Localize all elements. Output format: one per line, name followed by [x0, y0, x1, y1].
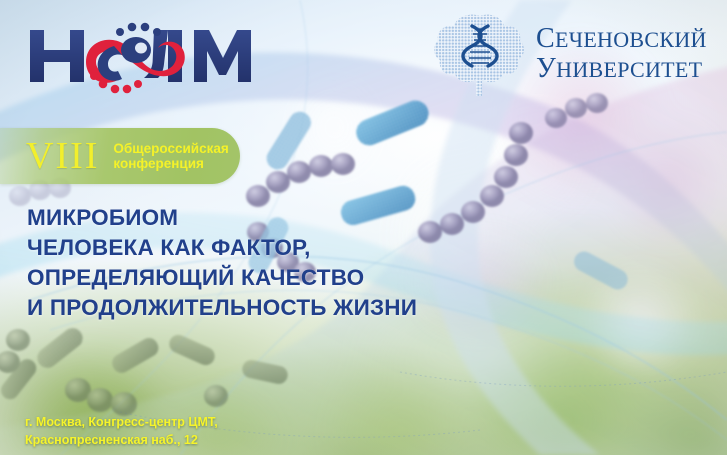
- sechenov-university-logo: СЕЧЕНОВСКИЙ УНИВЕРСИТЕТ: [432, 8, 720, 100]
- nsoim-logo: [28, 16, 256, 94]
- title-line-1: МИКРОБИОМ: [27, 203, 547, 233]
- title-line-3: ОПРЕДЕЛЯЮЩИЙ КАЧЕСТВО: [27, 263, 547, 293]
- venue-line-2: Краснопресненская наб., 12: [25, 431, 218, 449]
- tree-dna-icon: [432, 10, 528, 98]
- conference-number: VIII: [26, 137, 99, 175]
- conference-title: МИКРОБИОМ ЧЕЛОВЕКА КАК ФАКТОР, ОПРЕДЕЛЯЮ…: [27, 203, 547, 323]
- title-line-4: И ПРОДОЛЖИТЕЛЬНОСТЬ ЖИЗНИ: [27, 293, 547, 323]
- venue-line-1: г. Москва, Конгресс-центр ЦМТ,: [25, 413, 218, 431]
- badge-line-1: Общероссийская: [113, 141, 228, 156]
- sechenov-line1-cap: С: [536, 23, 555, 54]
- sechenov-line1-rest: ЕЧЕНОВСКИЙ: [555, 27, 707, 52]
- sechenov-wordmark: СЕЧЕНОВСКИЙ УНИВЕРСИТЕТ: [536, 25, 707, 83]
- conference-banner: СЕЧЕНОВСКИЙ УНИВЕРСИТЕТ VIII Общероссийс…: [0, 0, 727, 455]
- conference-number-badge: VIII Общероссийская конференция: [0, 128, 240, 184]
- conference-type-label: Общероссийская конференция: [113, 141, 228, 171]
- title-line-2: ЧЕЛОВЕКА КАК ФАКТОР,: [27, 233, 547, 263]
- sechenov-line2-rest: НИВЕРСИТЕТ: [556, 57, 702, 82]
- venue-address: г. Москва, Конгресс-центр ЦМТ, Краснопре…: [25, 413, 218, 449]
- nsoim-logo-icon: [28, 16, 256, 94]
- badge-line-2: конференция: [113, 156, 228, 171]
- sechenov-line2-cap: У: [536, 53, 556, 84]
